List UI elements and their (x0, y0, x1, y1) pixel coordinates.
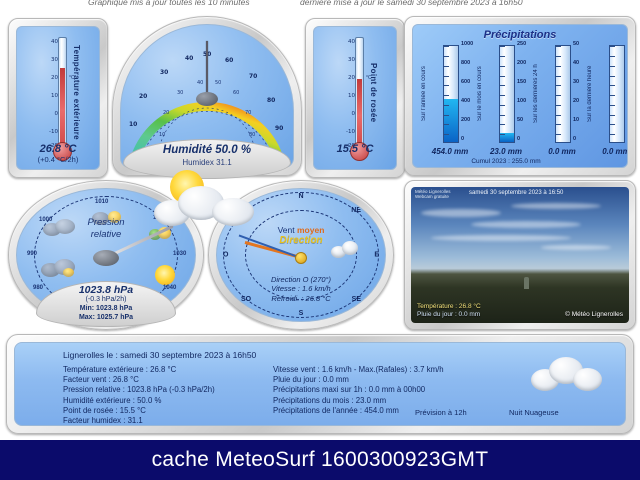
svg-text:70: 70 (245, 110, 251, 116)
summary-humidex: Facteur humidex : 31.1 (63, 416, 215, 426)
summary-heading: Lignerolles le : samedi 30 septembre 202… (63, 350, 256, 360)
summary-left-column: Température extérieure : 26.8 °C Facteur… (63, 365, 215, 426)
precip-month-ticks (500, 46, 514, 142)
pressure-title-line1: Pression (88, 217, 125, 228)
precip-hour-value: 0.0 mm (583, 147, 628, 156)
humidity-needle-hub (196, 92, 218, 106)
precip-year-gauge (443, 45, 459, 143)
pressure-value: 1023.8 hPa (37, 284, 175, 296)
precip-hour-ticks (610, 46, 624, 142)
svg-text:10: 10 (159, 132, 165, 138)
outdoor-temperature-label: Température extérieure (67, 45, 81, 140)
dew-point-scale: 40 30 20 10 0 -10 -20 (326, 35, 355, 149)
precip-24h-label: Sur les dernières 24 h (533, 51, 547, 137)
wind-speed-value: Vitesse : 1.6 km/h (217, 284, 385, 294)
outdoor-temperature-scale: 40 30 20 10 0 -10 -20 (29, 35, 58, 149)
webcam-rain: Pluie du jour : 0.0 mm (417, 311, 480, 318)
dew-point-unit: °C (366, 75, 372, 81)
webcam-mast-icon (524, 277, 529, 289)
dew-point-value: 15.5 °C (306, 143, 404, 155)
webcam-datetime: samedi 30 septembre 2023 à 16:50 (469, 190, 563, 196)
summary-outdoor-temp: Température extérieure : 26.8 °C (63, 365, 215, 375)
precip-column-hour: Sur la dernière heure 25 19 13 7 3 0 (589, 45, 628, 168)
precip-cumul-note: Cumul 2023 : 255.0 mm (469, 158, 543, 165)
precip-month-gauge (499, 45, 515, 143)
forecast-text: Nuit Nuageuse (509, 408, 559, 417)
svg-text:90: 90 (275, 125, 283, 132)
outdoor-temperature-unit: °C (69, 75, 75, 81)
precip-hour-label: Sur la dernière heure (587, 51, 601, 137)
header-note-left: Graphique mis à jour toutes les 10 minut… (88, 0, 250, 7)
summary-rain-max-1h: Précipitations maxi sur 1h : 0.0 mm à 00… (273, 385, 444, 395)
svg-text:30: 30 (160, 69, 168, 76)
summary-wind-chill: Facteur vent : 26.8 °C (63, 375, 215, 385)
summary-dew-point: Point de rosée : 15.5 °C (63, 406, 215, 416)
svg-text:80: 80 (249, 132, 255, 138)
precipitation-panel[interactable]: Précipitations Sur l'année en cours 1000… (404, 16, 636, 176)
forecast-label: Prévision à 12h (415, 408, 467, 417)
svg-text:80: 80 (267, 97, 275, 104)
wind-chill-value: Refroidi. : 26.8 °C (217, 294, 385, 304)
precip-column-month: Sur le mois en cours 250 200 150 100 50 … (479, 45, 533, 168)
pressure-trend: (-0.3 hPa/2h) (37, 296, 175, 303)
summary-rain-day: Pluie du jour : 0.0 mm (273, 375, 444, 385)
svg-text:40: 40 (185, 55, 193, 62)
precip-24h-gauge (555, 45, 571, 143)
wind-arrow-hub (295, 252, 307, 264)
pressure-needle-hub (93, 250, 119, 266)
svg-text:70: 70 (249, 73, 257, 80)
compass-south-label: S (299, 310, 304, 317)
precip-month-label: Sur le mois en cours (477, 51, 491, 137)
precip-hour-gauge (609, 45, 625, 143)
pressure-title-line2: relative (91, 229, 122, 240)
precip-year-label: Sur l'année en cours (421, 51, 435, 137)
pressure-max: Max: 1025.7 hPa (37, 314, 175, 321)
header-note-right: dernière mise à jour le samedi 30 septem… (300, 0, 523, 7)
svg-text:50: 50 (215, 80, 221, 86)
humidity-value: Humidité 50.0 % (124, 144, 290, 156)
wind-readout: Direction O (270°) Vitesse : 1.6 km/h Re… (217, 275, 385, 304)
svg-text:60: 60 (233, 90, 239, 96)
wind-direction-value: Direction O (270°) (217, 275, 385, 285)
compass-west-label: O (223, 252, 228, 259)
precipitation-face: Précipitations Sur l'année en cours 1000… (412, 24, 628, 168)
compass-north-label: N (298, 193, 303, 200)
dashboard-stage: Graphique mis à jour toutes les 10 minut… (0, 0, 640, 440)
summary-rain-month: Précipitations du mois : 23.0 mm (273, 396, 444, 406)
webcam-brand: Météo Lignerolles Webcam gratuite (415, 189, 451, 199)
wind-cloud-icon (331, 241, 357, 261)
compass-east-label: E (374, 252, 379, 259)
outdoor-temperature-tube (58, 37, 67, 147)
outdoor-temperature-value: 26.8 °C (9, 143, 107, 155)
svg-text:10: 10 (129, 121, 137, 128)
precip-hour-scale: 25 19 13 7 3 0 (627, 41, 628, 145)
sun-icon (155, 265, 175, 285)
humidity-panel[interactable]: 0 10 20 30 40 50 60 70 80 90 100 10 20 3… (112, 16, 302, 176)
summary-face: Lignerolles le : samedi 30 septembre 202… (14, 342, 626, 426)
wind-title-accent: moyen (297, 225, 324, 235)
status-bar-text: cache MeteoSurf 1600300923GMT (152, 448, 489, 472)
webcam-credit: © Météo Lignerolles (565, 311, 623, 318)
outdoor-temperature-mercury (60, 68, 65, 146)
pressure-readout-plate: 1023.8 hPa (-0.3 hPa/2h) Min: 1023.8 hPa… (36, 281, 176, 327)
webcam-photo[interactable]: Météo Lignerolles Webcam gratuite samedi… (411, 187, 629, 323)
outdoor-temperature-trend: (+0.4 °C/2h) (9, 155, 107, 164)
dew-point-mercury (357, 79, 362, 146)
precip-year-ticks (444, 46, 458, 142)
wind-title: Vent moyen (217, 225, 385, 235)
dew-point-panel[interactable]: 40 30 20 10 0 -10 -20 Point de rosée °C … (305, 18, 405, 178)
humidex-value: Humidex 31.1 (124, 158, 290, 167)
dew-point-tube (355, 37, 364, 147)
webcam-temperature: Température : 26.8 °C (417, 303, 481, 310)
outdoor-temperature-panel[interactable]: 40 30 20 10 0 -10 -20 Température extéri… (8, 18, 108, 178)
humidity-needle (206, 41, 208, 99)
svg-text:20: 20 (139, 93, 147, 100)
precip-column-24h: Sur les dernières 24 h 50 40 30 20 10 0 (535, 45, 589, 168)
summary-panel: Lignerolles le : samedi 30 septembre 202… (6, 334, 634, 434)
svg-text:30: 30 (177, 90, 183, 96)
status-bar: cache MeteoSurf 1600300923GMT (0, 440, 640, 480)
current-conditions-cloud-icon (152, 170, 262, 226)
dew-point-label: Point de rosée (364, 45, 378, 140)
svg-text:20: 20 (163, 110, 169, 116)
webcam-brand-line2: Webcam gratuite (415, 194, 449, 199)
svg-text:60: 60 (225, 57, 233, 64)
precip-24h-ticks (556, 46, 570, 142)
summary-pressure: Pression relative : 1023.8 hPa (-0.3 hPa… (63, 385, 215, 395)
pressure-min: Min: 1023.8 hPa (37, 305, 175, 312)
summary-humidity: Humidité extérieure : 50.0 % (63, 396, 215, 406)
wind-title-prefix: Vent (278, 225, 295, 235)
summary-wind-speed: Vitesse vent : 1.6 km/h - Max.(Rafales) … (273, 365, 444, 375)
forecast-cloud-icon (531, 355, 603, 399)
webcam-panel[interactable]: Météo Lignerolles Webcam gratuite samedi… (404, 180, 636, 330)
svg-text:40: 40 (197, 80, 203, 86)
storm-cloud-icon (41, 259, 77, 279)
precip-column-year: Sur l'année en cours 1000 800 600 400 20… (423, 45, 477, 168)
compass-northeast-label: NE (351, 207, 361, 214)
precipitation-title: Précipitations (413, 29, 627, 41)
